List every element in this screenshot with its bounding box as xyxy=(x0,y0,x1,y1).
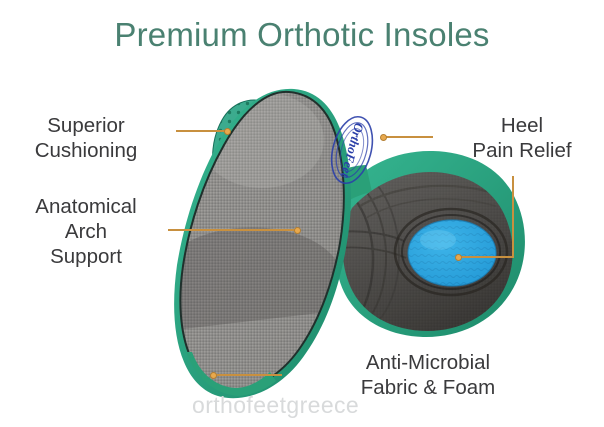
leader-dot-superior-cushioning xyxy=(224,128,231,135)
leader-dot-gel-pad xyxy=(455,254,462,261)
leader-dot-anti-microbial xyxy=(210,372,217,379)
watermark-text: orthofeetgreece xyxy=(192,392,359,419)
leader-line-heel-pain-relief xyxy=(383,136,433,138)
blue-gel-heel-pad xyxy=(408,220,496,286)
leader-line-gel-vertical xyxy=(512,176,514,258)
callout-label-superior-cushioning: Superior Cushioning xyxy=(0,113,172,163)
callout-label-heel-pain-relief: Heel Pain Relief xyxy=(440,113,604,163)
infographic-canvas: OrthoFeet Premium Orthotic Insoles Super… xyxy=(0,0,604,427)
leader-line-arch-support xyxy=(168,229,298,231)
leader-dot-arch-support xyxy=(294,227,301,234)
leader-line-gel-horizontal xyxy=(458,256,513,258)
callout-label-anatomical-arch-support: Anatomical Arch Support xyxy=(0,194,172,269)
leader-dot-heel-pain-relief xyxy=(380,134,387,141)
leader-line-anti-microbial xyxy=(214,374,282,376)
page-title: Premium Orthotic Insoles xyxy=(0,16,604,54)
leader-line-superior-cushioning xyxy=(176,130,228,132)
